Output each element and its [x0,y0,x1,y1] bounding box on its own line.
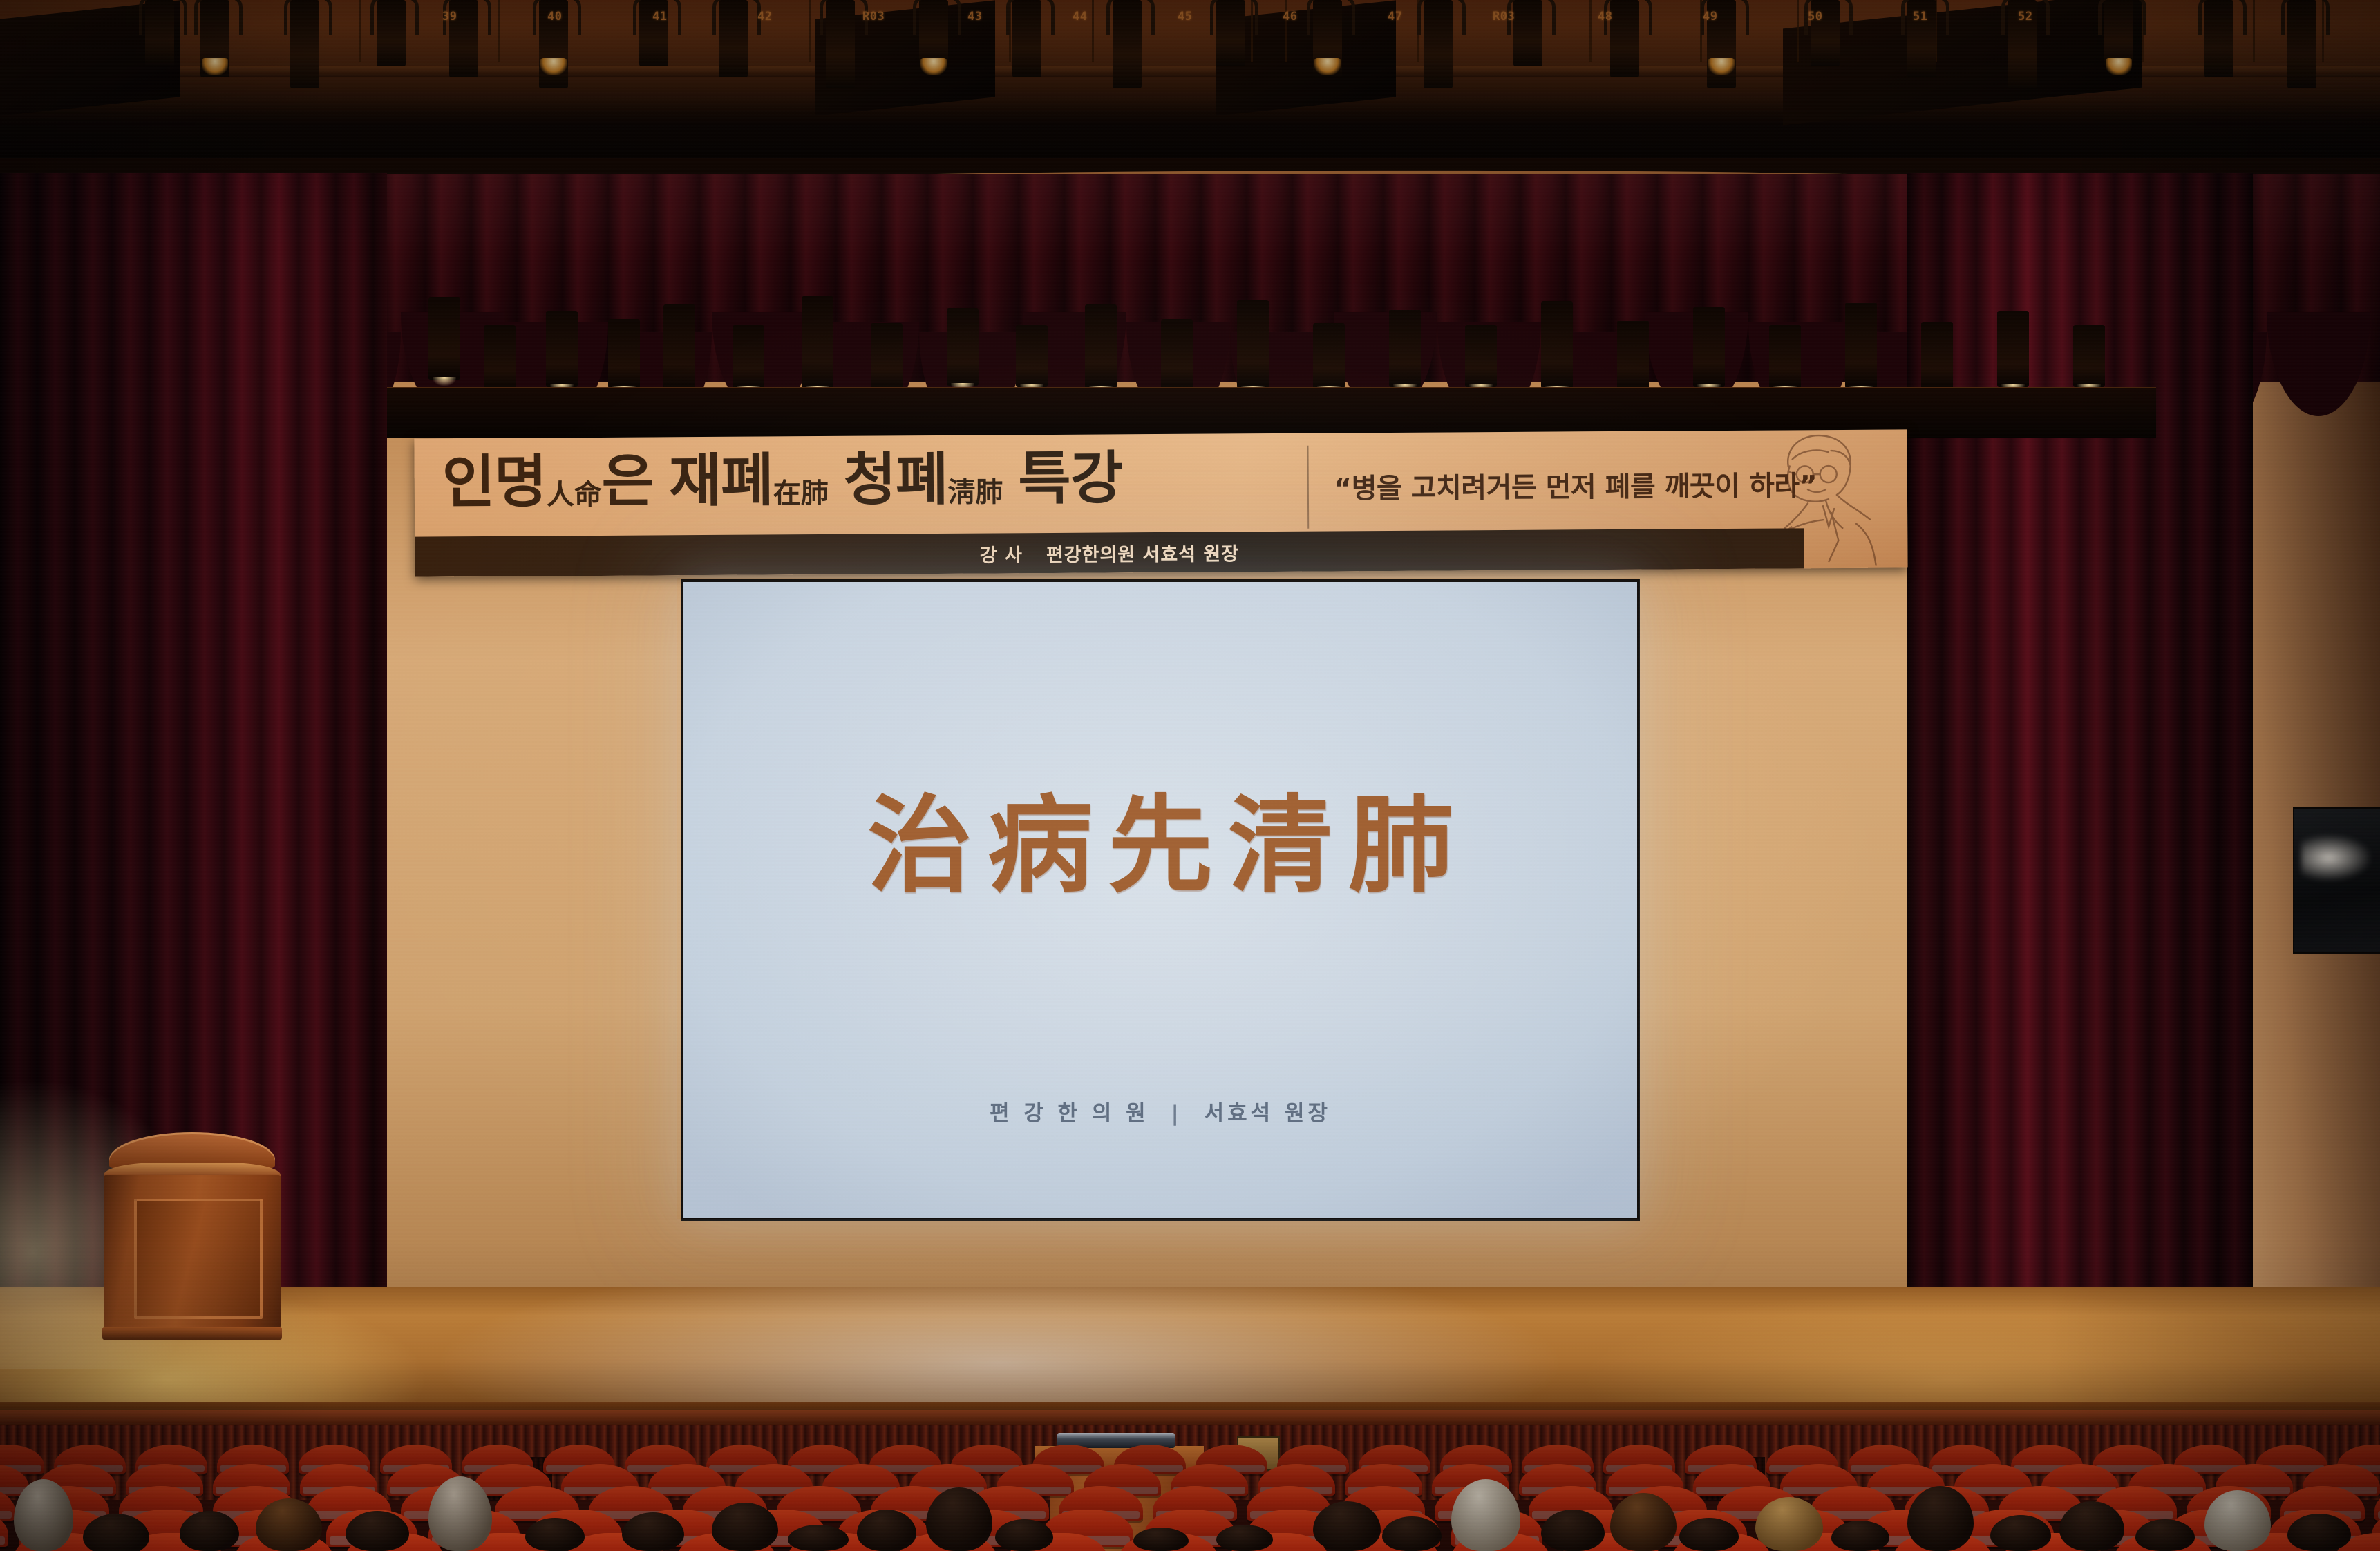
stage-light-fixture [1997,311,2029,387]
slide-footer-speaker: 서효석 원장 [1205,1101,1331,1126]
wall-monitor-glare [2301,835,2370,881]
audience-member [995,1519,1053,1551]
banner-hanja-jaepye: 在肺 [773,480,829,507]
batten-number: R03 [862,10,885,23]
auditorium-stage-photo: (function(){ const host=document.getElem… [0,0,2380,1551]
stage-light-fixture [290,0,319,88]
audience-member [1541,1510,1605,1551]
audience-member [1133,1527,1189,1551]
projection-screen-frame: 治病先清肺 편 강 한 의 원 | 서효석 원장 [681,579,1640,1221]
ceiling-cable [1092,0,1094,62]
stage-light-fixture [1769,325,1801,388]
slide-title: 治病先清肺 [683,760,1637,912]
lecture-banner: 인명 人命 은 재폐 在肺 청폐 淸肺 특강 “병을 고치려거든 먼저 폐를 깨… [414,429,1907,576]
banner-speaker-name: 편강한의원 서효석 원장 [1046,538,1239,567]
stage-light-fixture [1617,321,1649,390]
lectern-panel [134,1198,263,1319]
audience-member [1382,1516,1442,1551]
stage-light-fixture [377,0,406,66]
stage-floor-lighting [0,1287,2380,1418]
stage-light-fixture [919,0,948,66]
stage-light-fixture [1921,322,1953,390]
audience-member [2287,1514,2351,1551]
stage-light-fixture [663,304,695,391]
batten-number: 45 [1178,10,1192,23]
batten-number: 44 [1073,10,1087,23]
audience-member [857,1510,916,1551]
stage-light-fixture [428,297,460,380]
audience-member [1831,1521,1889,1551]
stage-light-fixture [2073,325,2105,387]
stage-light-fixture [1313,323,1345,388]
slide-footer: 편 강 한 의 원 | 서효석 원장 [683,1096,1637,1127]
banner-headline: 인명 人命 은 재폐 在肺 청폐 淸肺 특강 [442,449,1300,536]
stage-light-fixture [802,296,833,389]
stage-light-fixture [719,0,748,77]
stage-light-fixture [1610,0,1639,77]
batten-number: 46 [1283,10,1297,23]
stage-light-fixture [200,0,229,77]
banner-speaker-role: 강 사 [980,540,1023,567]
batten-number: 47 [1388,10,1402,23]
batten-number: R03 [1493,10,1515,23]
ceiling-cable [2253,0,2255,62]
ceiling-cable [1589,0,1592,62]
stage-light-fixture [1113,0,1142,88]
audience-member [788,1525,849,1551]
slide-footer-clinic: 편 강 한 의 원 [990,1101,1149,1126]
stage-light-fixture [1465,325,1497,387]
audience-member [1216,1525,1273,1551]
audience-member [1679,1518,1739,1551]
batten-number: 41 [652,10,667,23]
stage-light-fixture [1216,0,1245,66]
ceiling-cable [498,0,500,62]
stage-light-fixture [145,0,174,66]
wall-monitor-panel [2293,807,2380,954]
stage-light-fixture [484,325,516,391]
batten-number: 49 [1703,10,1717,23]
batten-number: 48 [1598,10,1612,23]
stage-light-fixture [1085,304,1117,388]
batten-number: 43 [967,10,982,23]
stage-light-fixture [1389,310,1421,387]
batten-number: 51 [1913,10,1927,23]
stage-light-fixture [1424,0,1453,88]
banner-particle-eun: 은 [601,452,654,509]
stage-light-fixture [733,325,764,388]
audience-member [346,1511,409,1551]
batten-number: 42 [757,10,772,23]
stage-light-fixture [1541,301,1573,388]
batten-number: 52 [2018,10,2032,23]
stage-light-fixture [1513,0,1542,66]
batten-number: 39 [442,10,457,23]
stage-light-fixture [1016,325,1048,387]
audience-member [525,1518,585,1551]
banner-speaker-bar: 강 사 편강한의원 서효석 원장 [415,528,1804,576]
stage-light-fixture [871,323,903,390]
banner-word-inmyeong: 인명 [442,453,547,511]
lectern [102,1132,282,1339]
ceiling-cable [359,0,361,62]
ceiling-cable [809,0,811,62]
stage-light-fixture [2104,0,2133,66]
stage-light-fixture [1237,300,1269,388]
banner-divider [1307,446,1309,529]
banner-word-cheongpye: 청폐 [843,451,947,509]
stage-light-fixture [1845,303,1877,388]
batten-number: 50 [1808,10,1822,23]
audience-member [180,1511,239,1551]
stage-light-fixture [1693,307,1725,387]
batten-number: 40 [547,10,562,23]
stage-light-fixture [546,311,578,387]
projection-screen: 治病先清肺 편 강 한 의 원 | 서효석 원장 [683,582,1637,1218]
audience-member [2135,1519,2195,1551]
audience-member [622,1512,684,1551]
stage-light-fixture [1313,0,1342,77]
stage-light-fixture [947,308,979,386]
stage-light-fixture [826,0,855,88]
stage-light-fixture [1012,0,1041,77]
house-rail [0,1410,2380,1425]
banner-hanja-cheongpye: 淸肺 [947,478,1003,506]
banner-hanja-inmyeong: 人命 [547,481,602,509]
lectern-base [102,1327,282,1339]
banner-word-teukgang: 특강 [1018,449,1122,507]
ceiling-cable [1797,0,1799,62]
audience-member [1990,1515,2051,1551]
stage-light-fixture [608,319,640,388]
stage-light-fixture [2287,0,2316,88]
stage-light-fixture [2204,0,2233,77]
slide-footer-separator: | [1160,1101,1193,1126]
banner-word-jaepye: 재폐 [669,451,773,509]
stage-light-fixture [1161,319,1193,390]
